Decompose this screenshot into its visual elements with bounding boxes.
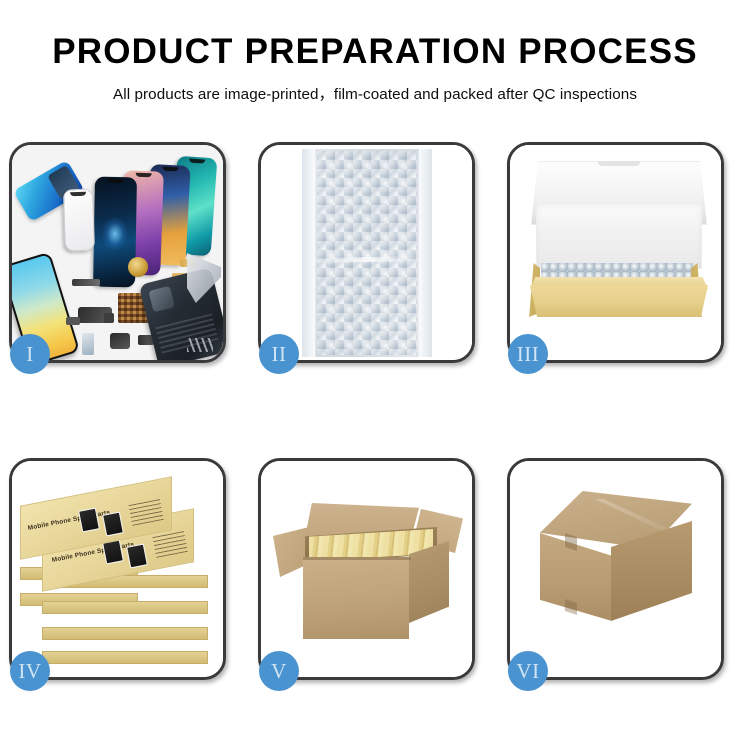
page-title: PRODUCT PREPARATION PROCESS: [0, 34, 750, 71]
sim-tray-icon: [82, 333, 94, 355]
step-badge-6: VI: [508, 651, 548, 691]
speaker-module-icon: [110, 333, 130, 349]
step-image-2: [261, 145, 472, 360]
carton-tab-bottom-icon: [565, 599, 577, 615]
box-screen-thumb-1a: [78, 507, 100, 532]
step-image-1: [12, 145, 223, 360]
step-panel-4[interactable]: Mobile Phone Spare Parts Mobile Phone Sp…: [9, 458, 226, 680]
step-image-5: [261, 461, 472, 677]
step-image-4: Mobile Phone Spare Parts Mobile Phone Sp…: [12, 461, 223, 677]
bubble-wrap-sheet: [315, 149, 419, 357]
speaker-coil-icon: [128, 257, 148, 277]
step-panel-2[interactable]: II: [258, 142, 475, 363]
loose-screws-icon: [187, 338, 213, 352]
step-badge-1: I: [10, 334, 50, 374]
box-screen-thumb-2b: [126, 543, 148, 568]
step-panel-3[interactable]: III: [507, 142, 724, 363]
stack-box-f4: [42, 651, 208, 664]
page-header: PRODUCT PREPARATION PROCESS All products…: [0, 0, 750, 104]
small-part-1-icon: [104, 313, 114, 323]
step-badge-2: II: [259, 334, 299, 374]
earpiece-bar-icon: [72, 279, 100, 286]
step-panel-6[interactable]: VI: [507, 458, 724, 680]
step-panel-1[interactable]: I: [9, 142, 226, 363]
stack-box-lid-1: Mobile Phone Spare Parts: [20, 491, 172, 545]
step-image-3: [510, 145, 721, 360]
carton-side-icon: [409, 541, 449, 623]
step-panel-5[interactable]: V: [258, 458, 475, 680]
page-subtitle: All products are image-printed，film-coat…: [0, 82, 750, 104]
box-front-icon: [530, 285, 708, 317]
step-badge-3: III: [508, 334, 548, 374]
foam-insert-icon: [536, 203, 702, 269]
box-stack: Mobile Phone Spare Parts Mobile Phone Sp…: [20, 479, 220, 669]
process-steps-grid: I II: [0, 142, 750, 682]
small-part-3-icon: [66, 317, 80, 325]
step-image-6: [510, 461, 721, 677]
phone-white-frame: [63, 188, 95, 251]
step-badge-4: IV: [10, 651, 50, 691]
stack-box-f2: [42, 601, 208, 614]
step-badge-5: V: [259, 651, 299, 691]
box-screen-thumb-1b: [102, 511, 124, 536]
stack-box-f3: [42, 627, 208, 640]
carton-front-icon: [303, 557, 409, 639]
